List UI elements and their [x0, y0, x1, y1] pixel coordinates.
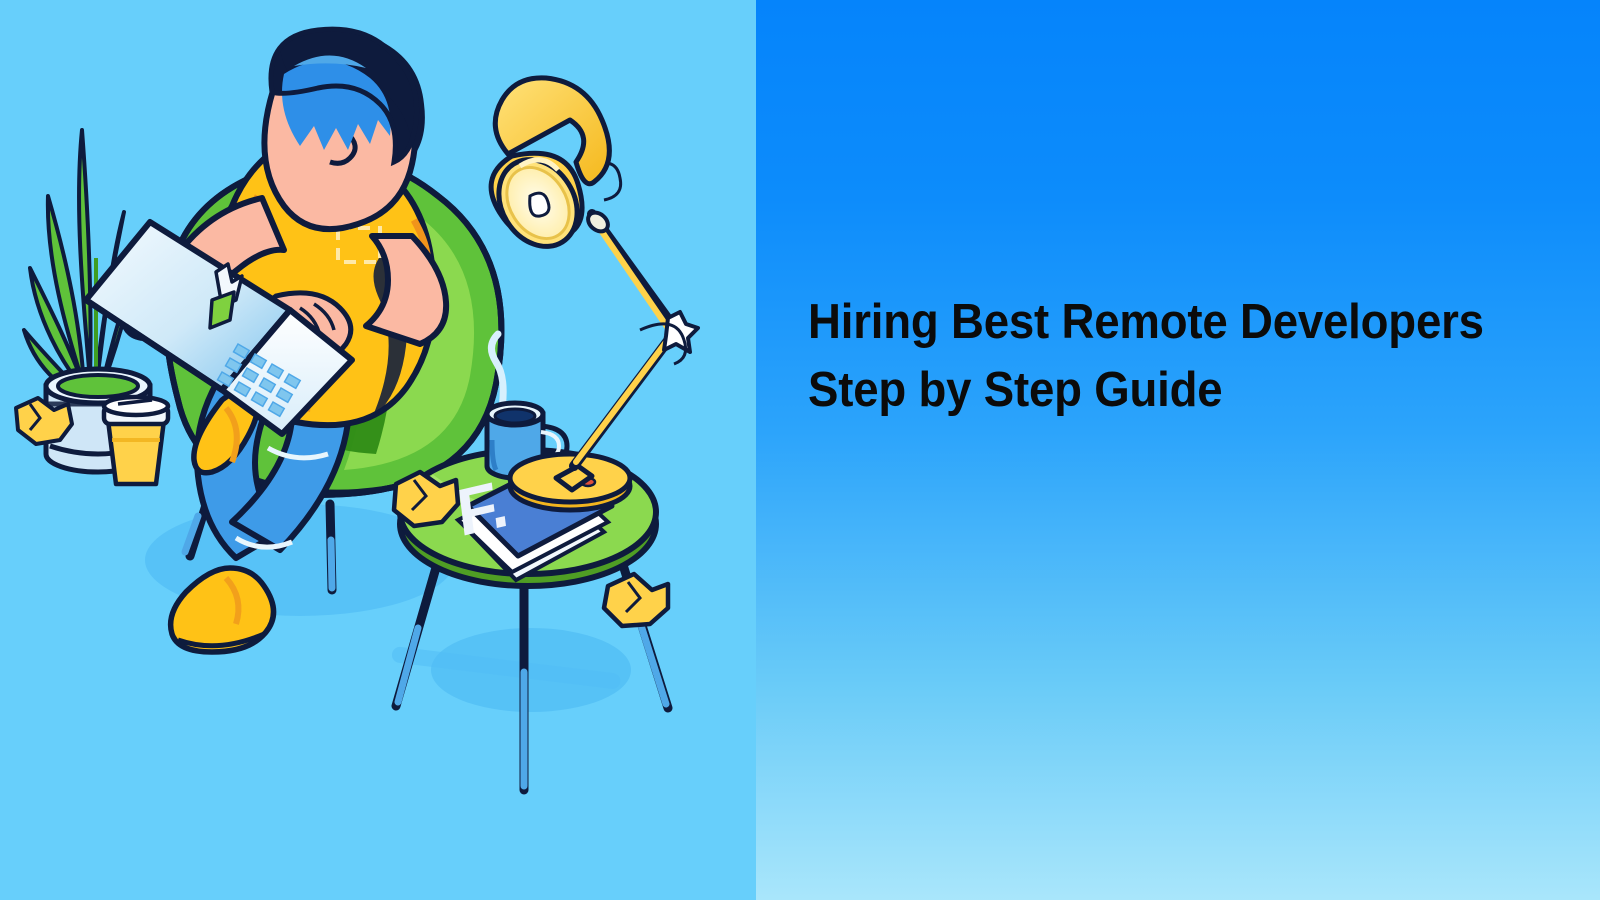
crumpled-paper — [16, 398, 72, 444]
banner: F. — [0, 0, 1600, 900]
headline-block: Hiring Best Remote Developers Step by St… — [808, 288, 1568, 424]
headline-line-1: Hiring Best Remote Developers — [808, 288, 1515, 356]
crumpled-paper-table-right — [604, 574, 668, 626]
headline-line-2: Step by Step Guide — [808, 356, 1515, 424]
lamp-shade — [483, 78, 609, 261]
hero-illustration: F. — [0, 0, 756, 900]
takeaway-coffee-cup — [104, 397, 168, 484]
right-background-panel — [756, 0, 1600, 900]
